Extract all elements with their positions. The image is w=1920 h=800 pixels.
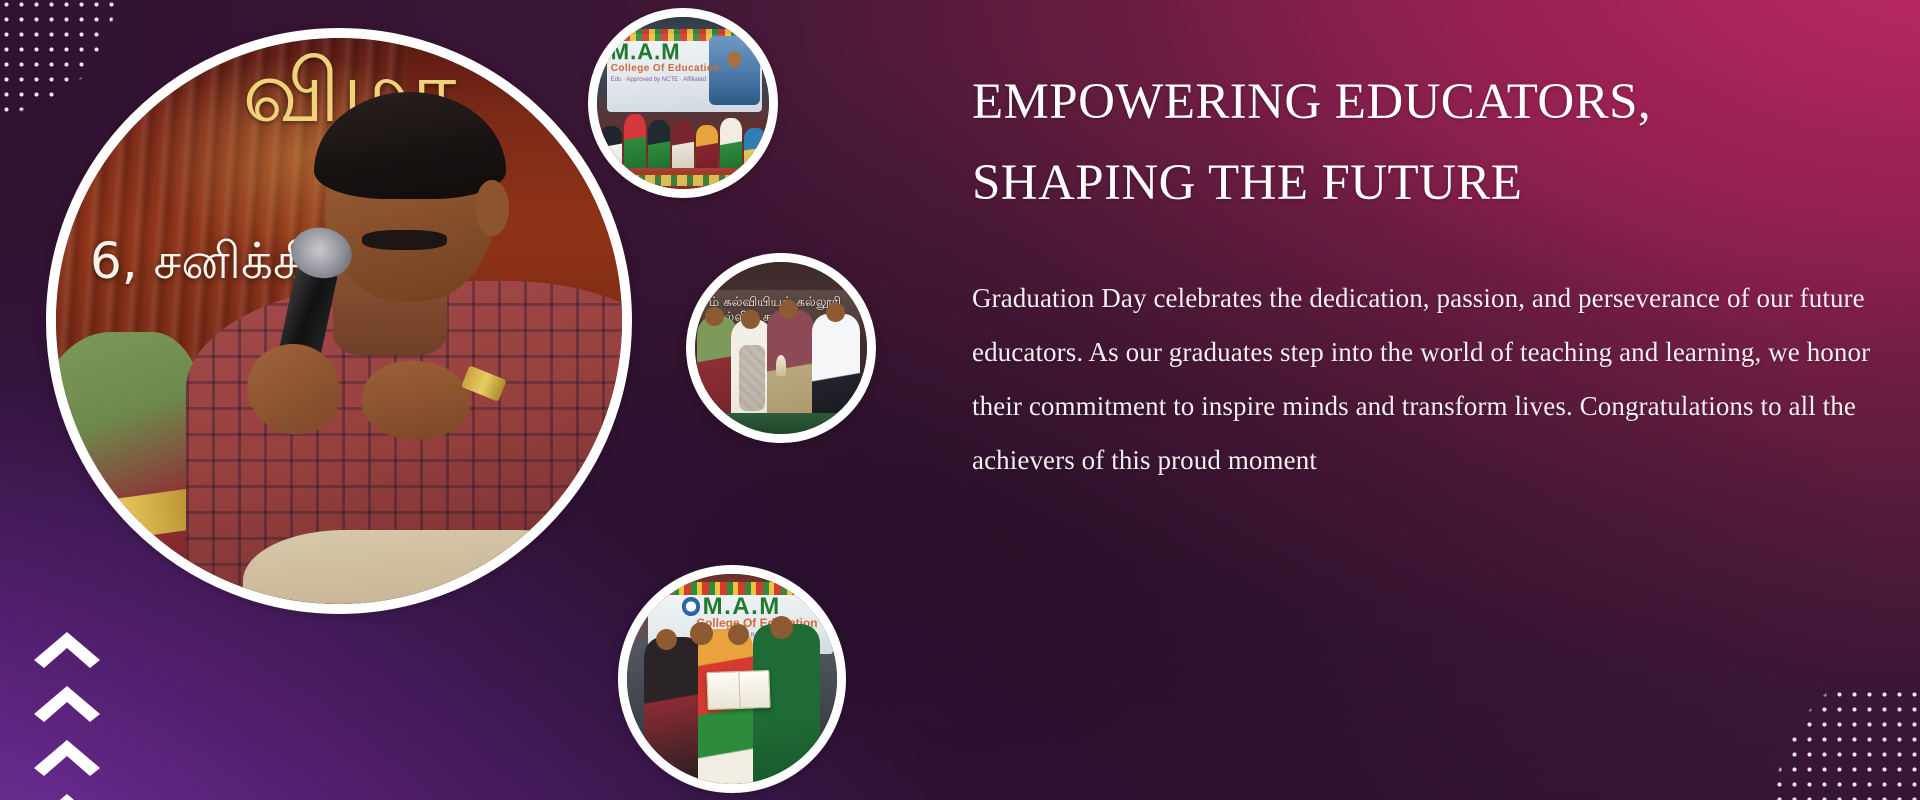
award-photo-circle: ம் கல்வியியல் கல்லூரி வில்லிய கல்லூரி	[686, 253, 876, 443]
speaker-moustache	[362, 230, 447, 249]
speaker-trousers	[243, 530, 605, 614]
award-head-3	[779, 300, 798, 319]
certificate-document-icon	[706, 670, 770, 710]
main-photo-circle: விழா 6, சனிக்கிழமை.	[46, 28, 632, 614]
certificate-person-left	[644, 637, 703, 784]
certificate-photo-circle: M.A.M College Of Education Edu · Shared …	[618, 565, 846, 793]
college-accreditation: Edu · Approved by NCTE · Affiliated	[611, 77, 706, 83]
main-photo: விழா 6, சனிக்கிழமை.	[56, 38, 622, 604]
certificate-photo: M.A.M College Of Education Edu · Shared …	[627, 574, 837, 784]
foreground-decor	[597, 175, 769, 185]
text-content: EMPOWERING EDUCATORS, SHAPING THE FUTURE…	[972, 62, 1902, 487]
award-head-1	[705, 307, 724, 326]
headline: EMPOWERING EDUCATORS, SHAPING THE FUTURE	[972, 62, 1692, 223]
graduation-banner: விழா 6, சனிக்கிழமை.	[0, 0, 1920, 800]
group-photo-circle: M.A.M College Of Education Edu · Approve…	[588, 8, 778, 198]
award-floor	[695, 413, 867, 434]
award-banner-line-1: ம் கல்வியியல் கல்லூரி	[709, 295, 841, 311]
speaker-ear	[475, 180, 509, 237]
group-photo: M.A.M College Of Education Edu · Approve…	[597, 17, 769, 189]
college-name: M.A.M	[611, 39, 681, 65]
photo-collage: விழா 6, சனிக்கிழமை.	[0, 0, 920, 800]
college-tagline: College Of Education	[611, 63, 720, 74]
award-photo: ம் கல்வியியல் கல்லூரி வில்லிய கல்லூரி	[695, 262, 867, 434]
seated-graduates-row	[600, 96, 765, 175]
body-paragraph: Graduation Day celebrates the dedication…	[972, 271, 1884, 487]
seated-person-sari	[46, 332, 203, 614]
dot-grid-bottom-right-icon	[1754, 684, 1920, 800]
award-head-4	[826, 303, 845, 322]
trophy-icon	[776, 355, 786, 376]
